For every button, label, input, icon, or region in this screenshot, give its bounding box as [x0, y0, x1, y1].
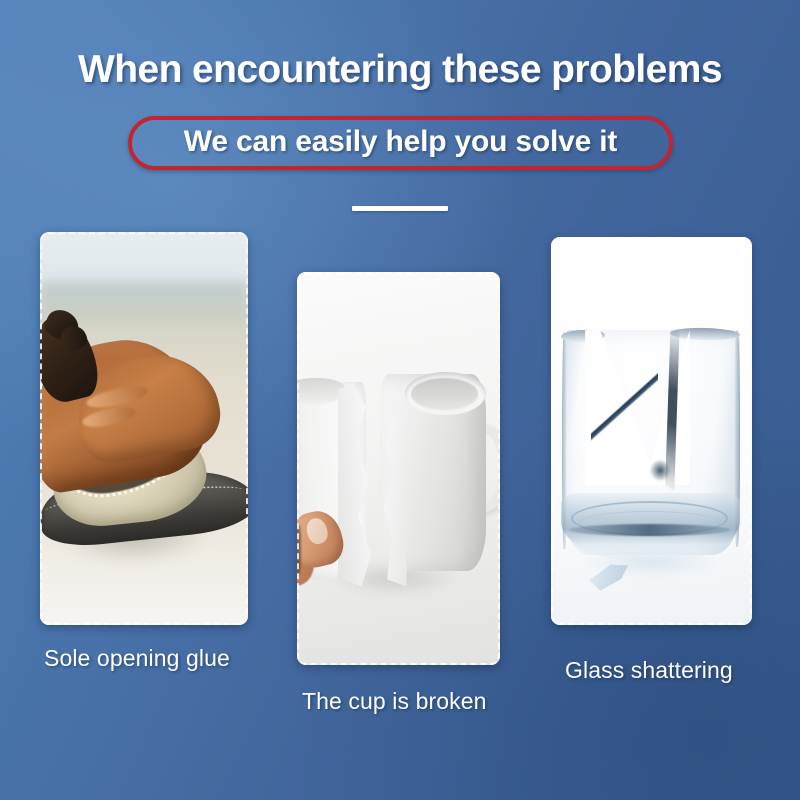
glass-table-reflection: [567, 555, 736, 594]
shoe-photo: [40, 232, 248, 625]
glass-photo: [551, 237, 752, 625]
caption-sole-opening-glue: Sole opening glue: [44, 645, 230, 672]
glass-break-edge-left: [591, 334, 657, 481]
section-divider: [352, 206, 448, 211]
problem-panel-cup: [297, 272, 500, 665]
problem-panel-glass: [551, 237, 752, 625]
problem-panel-shoe: [40, 232, 248, 625]
caption-the-cup-is-broken: The cup is broken: [302, 688, 487, 715]
glass-break-vertex: [649, 458, 673, 489]
caption-glass-shattering: Glass shattering: [565, 657, 733, 684]
cup-panel-left-shadow: [297, 524, 301, 575]
subtitle-text: We can easily help you solve it: [184, 125, 617, 159]
cup-photo: [297, 272, 500, 665]
cup-interior: [411, 378, 478, 409]
page-headline: When encountering these problems: [0, 48, 800, 92]
subtitle-pill-badge: We can easily help you solve it: [128, 116, 673, 170]
glass-base-dark-line: [569, 524, 730, 536]
